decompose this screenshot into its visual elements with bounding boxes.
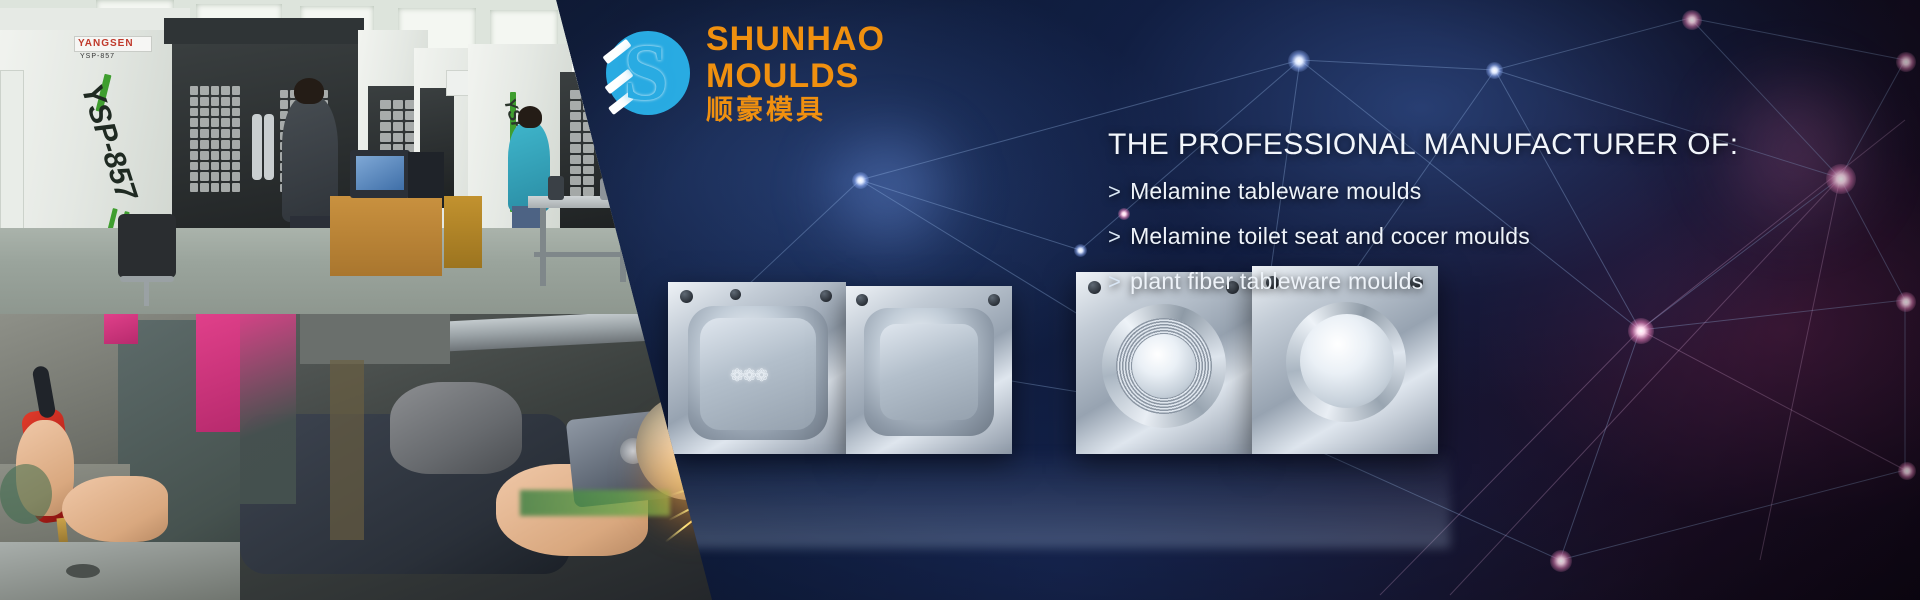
marketing-copy: THE PROFESSIONAL MANUFACTURER OF: > Mela… [1108,128,1868,313]
brand-name-line1: SHUNHAO [706,22,885,56]
product-list-item: > plant fiber tableware moulds [1108,268,1868,295]
mould-plate: ❁❁❁ [668,282,846,454]
work-glove [390,382,522,474]
pc-tower [408,152,444,198]
logo-s-mark: S [600,27,692,119]
wooden-bench [330,196,442,276]
brand-name-line2: MOULDS [706,59,885,93]
photo-hand-engraving [0,314,240,600]
product-list-item: > Melamine tableware moulds [1108,178,1868,205]
steel-workpiece [0,542,240,600]
mould-reflection [660,452,1450,548]
product-label: Melamine toilet seat and cocer moulds [1130,223,1530,250]
chevron-right-icon: > [1108,269,1121,295]
brand-name-chinese: 顺豪模具 [706,97,885,124]
product-list-item: > Melamine toilet seat and cocer moulds [1108,223,1868,250]
product-label: plant fiber tableware moulds [1130,268,1423,295]
company-logo[interactable]: S SHUNHAO MOULDS 顺豪模具 [600,22,885,124]
logo-letter: S [600,27,692,119]
office-chair [118,214,176,278]
chevron-right-icon: > [1108,224,1121,250]
chevron-right-icon: > [1108,179,1121,205]
logo-wordmark: SHUNHAO MOULDS 顺豪模具 [706,22,885,124]
product-label: Melamine tableware moulds [1130,178,1421,205]
promotional-banner: ❁❁❁ [0,0,1920,600]
worker-hand-right [62,476,168,542]
headline: THE PROFESSIONAL MANUFACTURER OF: [1108,128,1868,162]
mould-plate [846,286,1012,454]
